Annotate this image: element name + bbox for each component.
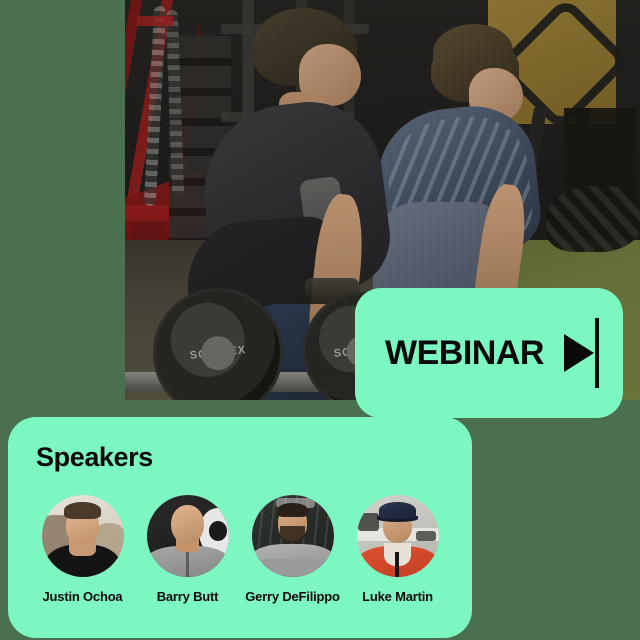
promo-card-stage: SORINEX SORINEX SORINEX WEBINAR Speakers — [0, 0, 640, 640]
avatar-justin-ochoa — [42, 495, 124, 577]
avatar-hair — [277, 503, 308, 517]
avatar-banner-text-right — [416, 531, 436, 541]
play-triangle-icon — [564, 334, 594, 372]
avatar-lanyard — [395, 552, 399, 577]
avatar-luke-martin — [357, 495, 439, 577]
speaker-name: Barry Butt — [135, 590, 240, 604]
avatar-crossed-arms — [258, 559, 327, 575]
avatar-face — [171, 505, 204, 544]
avatar-logo-inner — [209, 521, 227, 541]
avatar-beard — [280, 526, 305, 542]
avatar-hair — [64, 502, 100, 518]
avatar-baseball-cap — [379, 502, 415, 518]
webinar-badge[interactable]: WEBINAR — [355, 288, 623, 418]
speaker-name: Gerry DeFilippo — [240, 590, 345, 604]
speakers-title: Speakers — [36, 442, 450, 473]
speaker-name: Justin Ochoa — [30, 590, 135, 604]
webinar-label: WEBINAR — [385, 336, 544, 370]
speaker-item[interactable]: Barry Butt — [135, 495, 240, 604]
speaker-item[interactable]: Luke Martin — [345, 495, 450, 604]
plate-hub — [201, 336, 235, 370]
speaker-item[interactable]: Justin Ochoa — [30, 495, 135, 604]
speaker-name: Luke Martin — [345, 590, 450, 604]
avatar-gerry-defilippo — [252, 495, 334, 577]
speakers-card: Speakers Justin Ochoa — [8, 417, 472, 638]
avatar-barry-butt — [147, 495, 229, 577]
vertical-bar-icon — [595, 318, 599, 388]
speaker-item[interactable]: Gerry DeFilippo — [240, 495, 345, 604]
red-wall-sign — [137, 16, 173, 26]
speakers-list: Justin Ochoa Barry Butt — [30, 495, 450, 604]
